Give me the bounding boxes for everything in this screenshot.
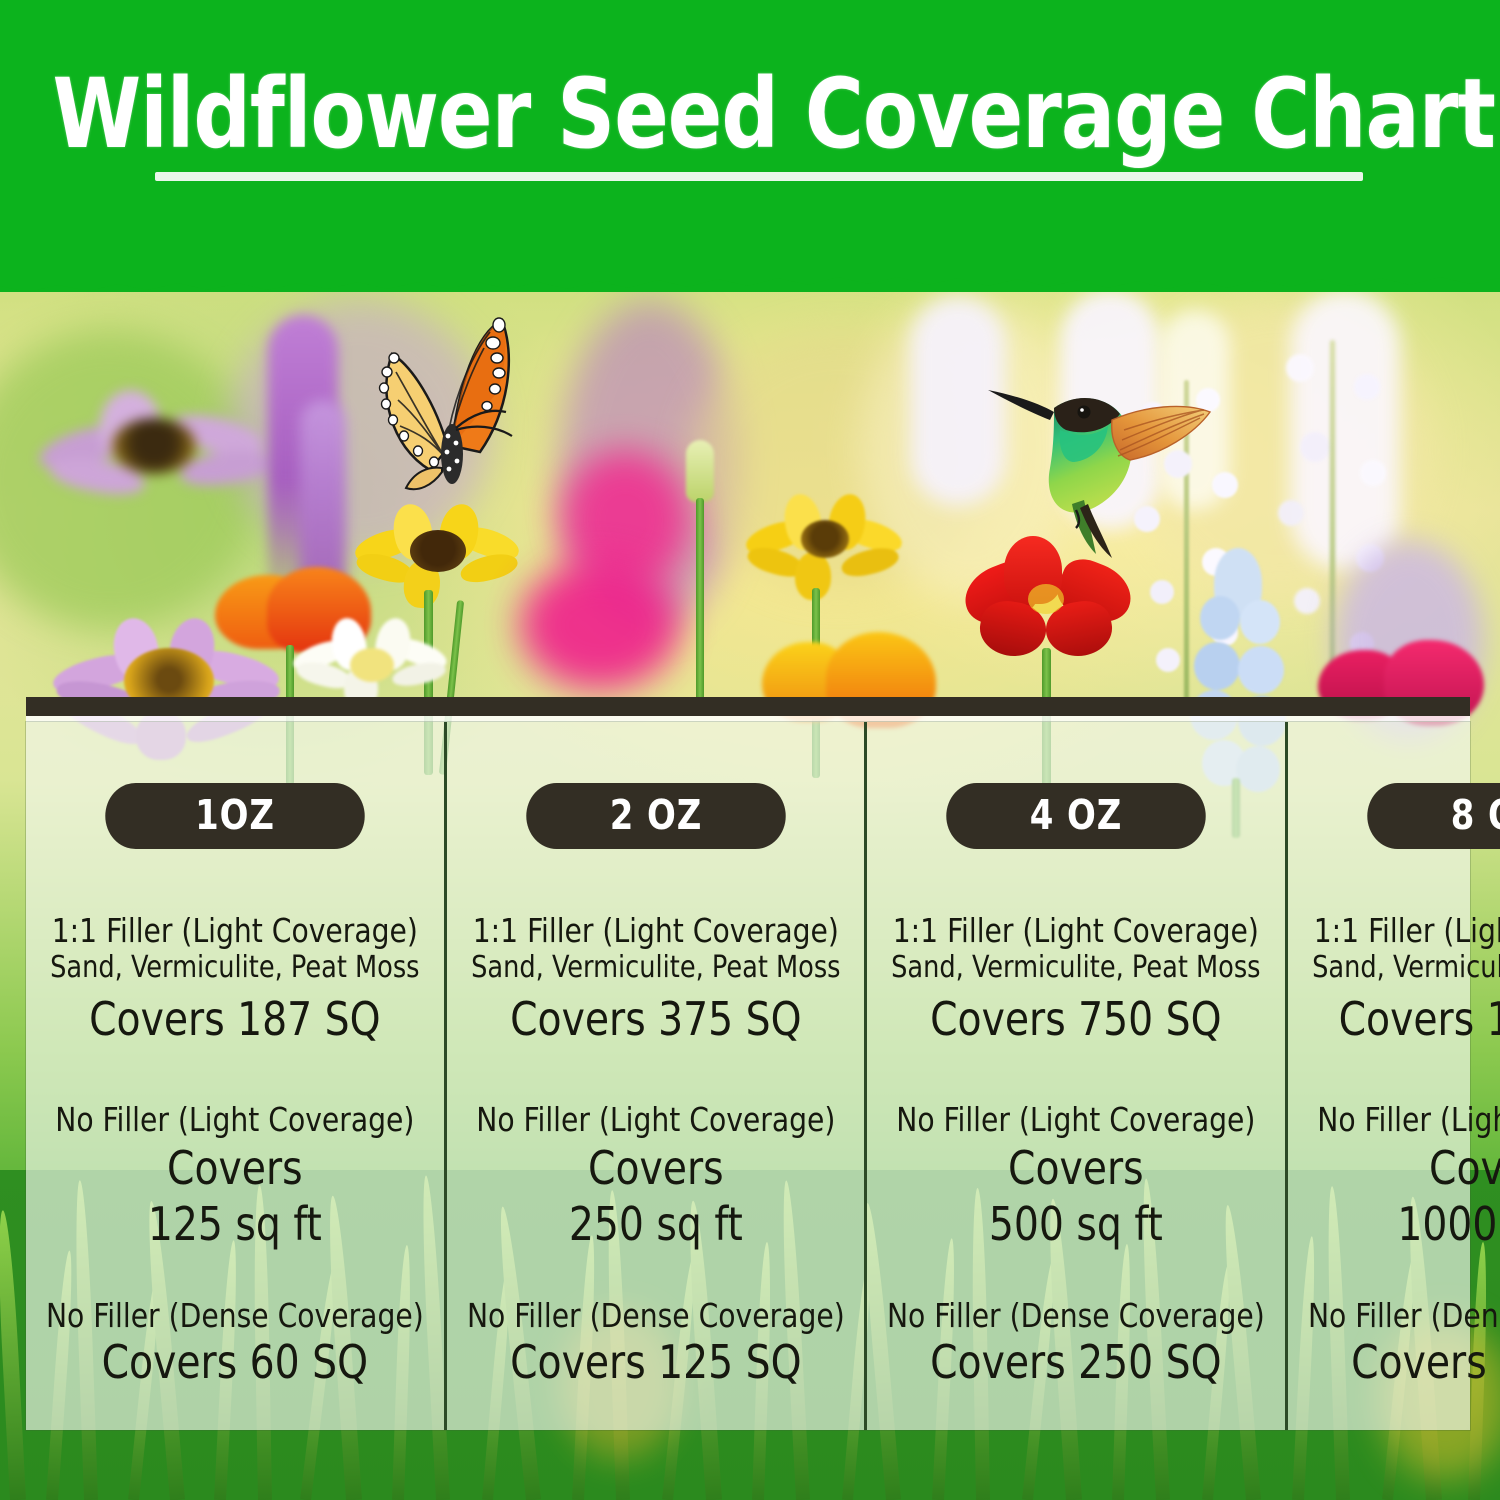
row-value-line2: 250 sq ft (467, 1197, 845, 1251)
row-value: Covers 60 SQ (46, 1335, 424, 1389)
row-value-line1: Covers (467, 1141, 845, 1195)
row-value: Covers 500 SQ (1308, 1335, 1500, 1389)
row-sublabel: Sand, Vermiculite, Peat Moss (467, 950, 845, 986)
table-column-8oz[interactable]: 8 OZ 1:1 Filler (Light Coverage) Sand, V… (1285, 722, 1500, 1430)
row-filler-light: 1:1 Filler (Light Coverage) Sand, Vermic… (1298, 912, 1500, 1046)
row-nofiller-dense: No Filler (Dense Coverage) Covers 500 SQ (1298, 1297, 1500, 1389)
pink-flower-blur (520, 560, 680, 690)
header-band: Wildflower Seed Coverage Chart (0, 0, 1500, 292)
row-value-line1: Covers (887, 1141, 1265, 1195)
size-badge: 8 OZ (1367, 783, 1500, 849)
red-cosmos-flower (962, 530, 1132, 660)
row-value-line2: 1000 sq ft (1308, 1197, 1500, 1251)
title-underline (155, 172, 1363, 181)
table-top-bar (26, 697, 1470, 716)
row-nofiller-light: No Filler (Light Coverage) Covers 250 sq… (457, 1101, 855, 1251)
flower-stem (696, 498, 704, 708)
row-value: Covers 187 SQ (46, 992, 424, 1046)
row-sublabel: Sand, Vermiculite, Peat Moss (887, 950, 1265, 986)
row-value-line2: 500 sq ft (887, 1197, 1265, 1251)
row-value: Covers 250 SQ (887, 1335, 1265, 1389)
row-label: No Filler (Dense Coverage) (467, 1297, 845, 1335)
row-nofiller-dense: No Filler (Dense Coverage) Covers 125 SQ (457, 1297, 855, 1389)
size-badge: 2 OZ (526, 783, 785, 849)
table-column-4oz[interactable]: 4 OZ 1:1 Filler (Light Coverage) Sand, V… (864, 722, 1285, 1430)
coverage-table: 1OZ 1:1 Filler (Light Coverage) Sand, Ve… (26, 697, 1470, 1430)
size-badge: 4 OZ (946, 783, 1205, 849)
row-filler-light: 1:1 Filler (Light Coverage) Sand, Vermic… (457, 912, 855, 1046)
row-label: No Filler (Light Coverage) (1308, 1101, 1500, 1139)
row-nofiller-dense: No Filler (Dense Coverage) Covers 60 SQ (36, 1297, 434, 1389)
row-label: No Filler (Light Coverage) (887, 1101, 1265, 1139)
row-label: No Filler (Dense Coverage) (1308, 1297, 1500, 1335)
row-label: No Filler (Dense Coverage) (887, 1297, 1265, 1335)
torn-paper-edge (0, 268, 1500, 294)
size-badge: 1OZ (105, 783, 364, 849)
row-value: Covers 125 SQ (467, 1335, 845, 1389)
row-nofiller-dense: No Filler (Dense Coverage) Covers 250 SQ (877, 1297, 1275, 1389)
table-column-1oz[interactable]: 1OZ 1:1 Filler (Light Coverage) Sand, Ve… (26, 722, 444, 1430)
row-nofiller-light: No Filler (Light Coverage) Covers 500 sq… (877, 1101, 1275, 1251)
row-filler-light: 1:1 Filler (Light Coverage) Sand, Vermic… (877, 912, 1275, 1046)
row-label: No Filler (Dense Coverage) (46, 1297, 424, 1335)
monarch-butterfly-icon (356, 296, 536, 526)
table-body: 1OZ 1:1 Filler (Light Coverage) Sand, Ve… (26, 722, 1470, 1430)
coneflower-blurred (30, 370, 280, 540)
row-label: 1:1 Filler (Light Coverage) (46, 912, 424, 950)
row-value: Covers 375 SQ (467, 992, 845, 1046)
poster-root: Wildflower Seed Coverage Chart 1OZ 1:1 F… (0, 0, 1500, 1500)
row-value-line1: Covers (46, 1141, 424, 1195)
table-column-2oz[interactable]: 2 OZ 1:1 Filler (Light Coverage) Sand, V… (444, 722, 865, 1430)
green-bud (686, 440, 714, 502)
row-value-line2: 125 sq ft (46, 1197, 424, 1251)
row-label: No Filler (Light Coverage) (46, 1101, 424, 1139)
row-label: 1:1 Filler (Light Coverage) (1308, 912, 1500, 950)
white-daisy (292, 600, 452, 710)
row-nofiller-light: No Filler (Light Coverage) Covers 1000 s… (1298, 1101, 1500, 1251)
row-filler-light: 1:1 Filler (Light Coverage) Sand, Vermic… (36, 912, 434, 1046)
page-title: Wildflower Seed Coverage Chart (53, 62, 1448, 166)
row-label: 1:1 Filler (Light Coverage) (887, 912, 1265, 950)
row-label: 1:1 Filler (Light Coverage) (467, 912, 845, 950)
black-eyed-susan (745, 482, 905, 602)
row-value: Covers 1500 SQ (1308, 992, 1500, 1046)
row-sublabel: Sand, Vermiculite, Peat Moss (1308, 950, 1500, 986)
row-nofiller-light: No Filler (Light Coverage) Covers 125 sq… (36, 1101, 434, 1251)
row-value: Covers 750 SQ (887, 992, 1265, 1046)
row-label: No Filler (Light Coverage) (467, 1101, 845, 1139)
row-value-line1: Covers (1308, 1141, 1500, 1195)
row-sublabel: Sand, Vermiculite, Peat Moss (46, 950, 424, 986)
